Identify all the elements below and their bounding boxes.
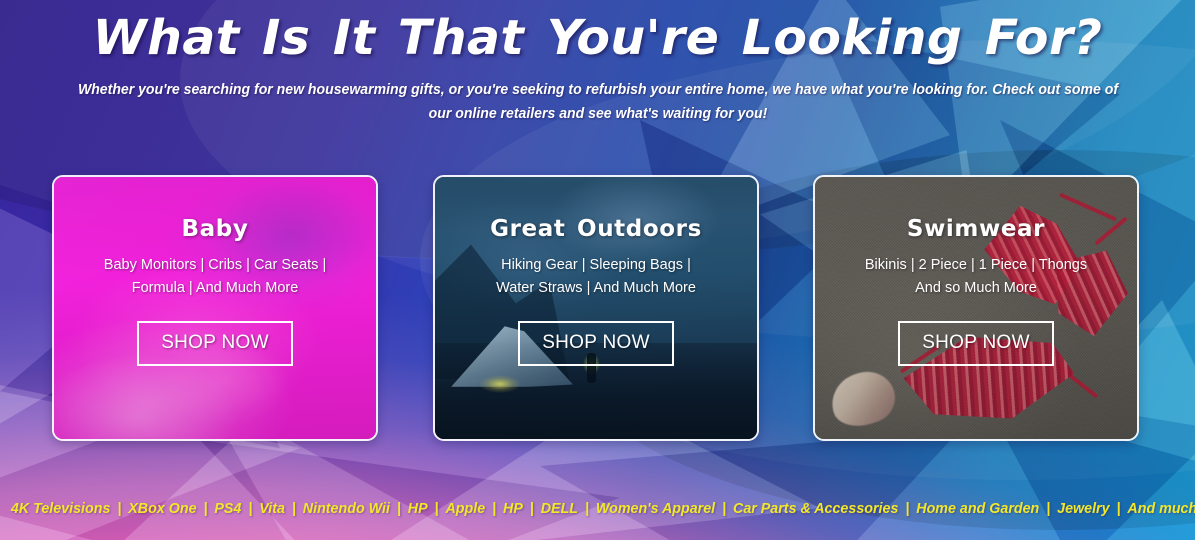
card-title-swimwear: Swimwear [815, 216, 1137, 242]
brand-strip-item[interactable]: Car Parts & Accessories [731, 501, 900, 517]
brand-strip-separator: | [199, 501, 213, 517]
card-body: Swimwear Bikinis | 2 Piece | 1 Piece | T… [815, 177, 1137, 366]
brand-strip-item[interactable]: DELL [539, 501, 580, 517]
category-card-great-outdoors[interactable]: Great Outdoors Hiking Gear | Sleeping Ba… [433, 175, 759, 441]
brand-strip-item[interactable]: Home and Garden [914, 501, 1041, 517]
brand-strip-separator: | [1112, 501, 1126, 517]
card-description-great-outdoors: Hiking Gear | Sleeping Bags | Water Stra… [435, 254, 757, 299]
card-description-baby: Baby Monitors | Cribs | Car Seats | Form… [54, 254, 376, 299]
card-body: Baby Baby Monitors | Cribs | Car Seats |… [54, 177, 376, 366]
brand-strip-item[interactable]: HP [406, 501, 430, 517]
card-description-line-1: Baby Monitors | Cribs | Car Seats | [54, 254, 376, 277]
category-cards: Baby Baby Monitors | Cribs | Car Seats |… [0, 175, 1195, 441]
brand-strip-separator: | [580, 501, 594, 517]
brand-strip-separator: | [287, 501, 301, 517]
promo-page: What Is It That You're Looking For? Whet… [0, 0, 1195, 540]
category-card-swimwear[interactable]: Swimwear Bikinis | 2 Piece | 1 Piece | T… [813, 175, 1139, 441]
shop-now-button-great-outdoors[interactable]: SHOP NOW [518, 321, 674, 366]
brand-strip-separator: | [392, 501, 406, 517]
brand-strip-item[interactable]: HP [501, 501, 525, 517]
page-subtitle: Whether you're searching for new housewa… [69, 78, 1126, 126]
brand-strip-separator: | [430, 501, 444, 517]
brand-strip-item[interactable]: Women's Apparel [594, 501, 717, 517]
brand-strip-item[interactable]: Vita [257, 501, 287, 517]
page-subtitle-line-2: and see what's waiting for you! [559, 106, 767, 122]
card-description-line-1: Hiking Gear | Sleeping Bags | [435, 254, 757, 277]
shop-now-button-baby[interactable]: SHOP NOW [137, 321, 293, 366]
card-description-line-1: Bikinis | 2 Piece | 1 Piece | Thongs [815, 254, 1137, 277]
brand-strip-separator: | [525, 501, 539, 517]
brand-strip-separator: | [900, 501, 914, 517]
card-title-great-outdoors: Great Outdoors [435, 216, 757, 242]
brand-strip-item[interactable]: Apple [444, 501, 488, 517]
card-description-line-2: Water Straws | And Much More [435, 277, 757, 300]
brand-strip-separator: | [717, 501, 731, 517]
brand-strip-separator: | [487, 501, 501, 517]
brand-strip: 4K Televisions | XBox One | PS4 | Vita |… [9, 496, 1186, 522]
brand-strip-item[interactable]: And much more [1125, 501, 1195, 517]
card-description-line-2: Formula | And Much More [54, 277, 376, 300]
brand-strip-separator: | [1041, 501, 1055, 517]
card-description-line-2: And so Much More [815, 277, 1137, 300]
category-card-baby[interactable]: Baby Baby Monitors | Cribs | Car Seats |… [52, 175, 378, 441]
page-header: What Is It That You're Looking For? Whet… [0, 0, 1195, 126]
brand-strip-separator: | [243, 501, 257, 517]
card-body: Great Outdoors Hiking Gear | Sleeping Ba… [435, 177, 757, 366]
brand-strip-item[interactable]: PS4 [212, 501, 243, 517]
card-description-swimwear: Bikinis | 2 Piece | 1 Piece | Thongs And… [815, 254, 1137, 299]
brand-strip-item[interactable]: Jewelry [1055, 501, 1111, 517]
shop-now-button-swimwear[interactable]: SHOP NOW [898, 321, 1054, 366]
brand-strip-item[interactable]: Nintendo Wii [301, 501, 392, 517]
page-title: What Is It That You're Looking For? [0, 8, 1195, 68]
brand-strip-separator: | [112, 501, 126, 517]
brand-strip-item[interactable]: XBox One [126, 501, 198, 517]
brand-strip-item[interactable]: 4K Televisions [9, 501, 112, 517]
card-title-baby: Baby [54, 216, 376, 242]
